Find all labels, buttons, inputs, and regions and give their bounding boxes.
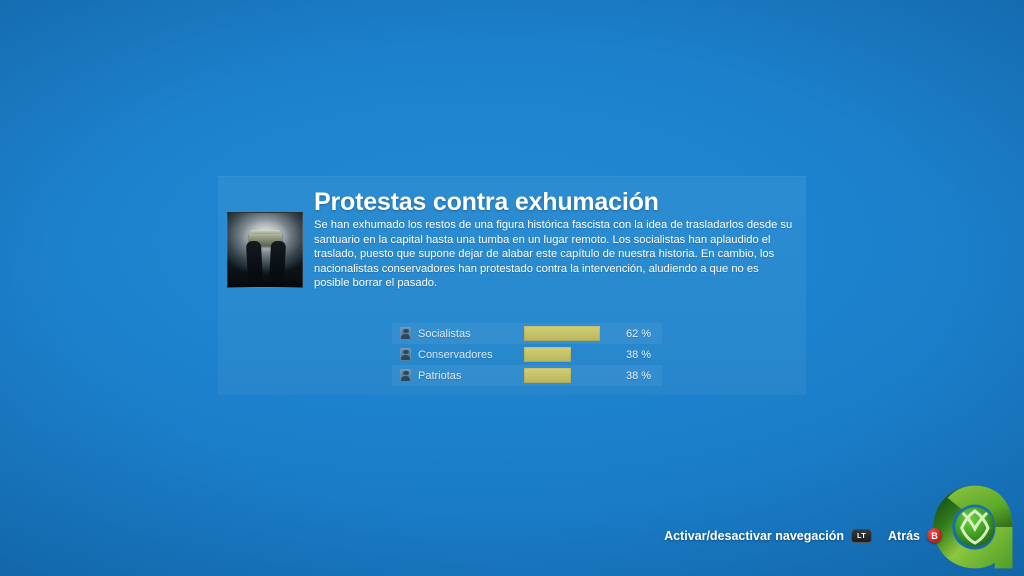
news-body-text: Se han exhumado los restos de una figura… (314, 218, 794, 291)
news-thumbnail (227, 212, 303, 288)
poll-bar-fill (524, 326, 600, 341)
xbox-game-bar-logo (926, 480, 1020, 574)
news-title: Protestas contra exhumación (314, 188, 659, 217)
poll-row[interactable]: Conservadores 38 % (392, 344, 662, 365)
party-emblem-icon (400, 369, 411, 382)
poll-percent-value: 38 % (626, 349, 651, 361)
party-emblem-icon (400, 327, 411, 340)
poll-row[interactable]: Socialistas 62 % (392, 323, 662, 344)
hud-back-label: Atrás (888, 529, 920, 543)
poll-party-label: Conservadores (418, 349, 522, 361)
poll-percent-value: 38 % (626, 370, 651, 382)
poll-party-label: Socialistas (418, 328, 522, 340)
bottom-hud: Activar/desactivar navegación LT Atrás B (664, 528, 942, 543)
lt-trigger-icon[interactable]: LT (851, 529, 872, 543)
poll-bar-fill (524, 368, 571, 383)
party-emblem-icon (400, 348, 411, 361)
poll-percent-value: 62 % (626, 328, 651, 340)
thumbnail-floor-shadow (228, 267, 302, 287)
poll-bar-track (524, 368, 604, 383)
poll-bar-fill (524, 347, 571, 362)
b-button-icon[interactable]: B (927, 528, 942, 543)
news-panel: Protestas contra exhumación Se han exhum… (218, 176, 806, 395)
poll-row[interactable]: Patriotas 38 % (392, 365, 662, 386)
poll-bar-track (524, 326, 604, 341)
poll-results-list: Socialistas 62 % Conservadores 38 % Patr… (392, 323, 662, 386)
hud-toggle-navigation-label: Activar/desactivar navegación (664, 529, 844, 543)
hud-back[interactable]: Atrás B (888, 528, 942, 543)
poll-party-label: Patriotas (418, 370, 522, 382)
poll-bar-track (524, 347, 604, 362)
hud-toggle-navigation[interactable]: Activar/desactivar navegación LT (664, 529, 872, 543)
